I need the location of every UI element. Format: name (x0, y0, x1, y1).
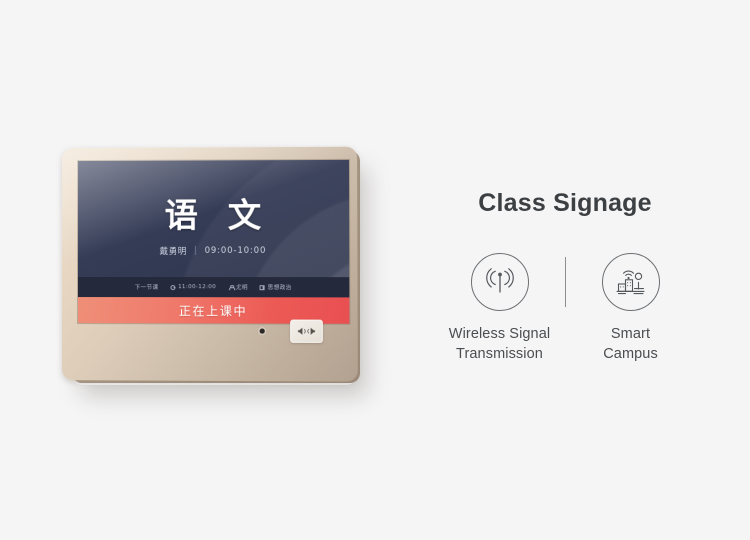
feature-wireless-signal-transmission: Wireless Signal Transmission (435, 253, 565, 364)
person-icon (228, 285, 233, 290)
nfc-card-reader[interactable] (290, 320, 323, 343)
feature-label-wireless-line2: Transmission (449, 345, 550, 365)
feature-smart-campus: Smart Campus (566, 253, 696, 364)
clock-icon (171, 285, 176, 290)
next-class-label-item: 下一节课 (135, 283, 159, 291)
next-class-time-item: 11:00-12:00 (171, 284, 217, 290)
meta-separator: | (194, 246, 198, 256)
feature-label-smart-campus: Smart Campus (603, 325, 658, 364)
next-class-subject-item: 思想政治 (260, 283, 292, 291)
device-screen: 语 文 戴勇明 | 09:00-10:00 下一节课 11:00-12:00 (78, 160, 349, 324)
feature-label-wireless-line1: Wireless Signal (449, 325, 550, 345)
book-icon (260, 285, 265, 290)
next-class-teacher-item: 尤明 (228, 283, 248, 291)
next-class-bar: 下一节课 11:00-12:00 尤明 思想政治 (78, 277, 349, 297)
camera-dot-icon (260, 329, 265, 334)
wireless-antenna-icon-circle (471, 253, 529, 311)
class-signage-device: 语 文 戴勇明 | 09:00-10:00 下一节课 11:00-12:00 (62, 143, 362, 388)
next-class-teacher: 尤明 (236, 283, 248, 291)
feature-label-campus-line1: Smart (603, 325, 658, 345)
teacher-name: 戴勇明 (160, 245, 187, 257)
status-text: 正在上课中 (179, 302, 247, 319)
smart-campus-icon (613, 267, 649, 297)
class-time: 09:00-10:00 (205, 246, 267, 256)
info-panel: Class Signage (420, 190, 710, 218)
feature-label-campus-line2: Campus (603, 345, 658, 365)
smart-campus-icon-circle (602, 253, 660, 311)
screen-main-area: 语 文 戴勇明 | 09:00-10:00 (78, 160, 349, 277)
next-class-subject: 思想政治 (268, 283, 292, 291)
page-title: Class Signage (420, 190, 710, 218)
wireless-antenna-icon (483, 267, 517, 297)
next-class-time: 11:00-12:00 (178, 284, 216, 290)
current-class-meta: 戴勇明 | 09:00-10:00 (78, 245, 349, 257)
nfc-card-reader-icon (297, 326, 315, 337)
device-bezel: 语 文 戴勇明 | 09:00-10:00 下一节课 11:00-12:00 (62, 147, 358, 382)
page-root: 语 文 戴勇明 | 09:00-10:00 下一节课 11:00-12:00 (0, 0, 750, 540)
next-class-label: 下一节课 (135, 283, 159, 291)
current-subject-title: 语 文 (78, 188, 349, 237)
feature-list: Wireless Signal Transmission (420, 253, 710, 364)
feature-label-wireless: Wireless Signal Transmission (449, 325, 550, 364)
